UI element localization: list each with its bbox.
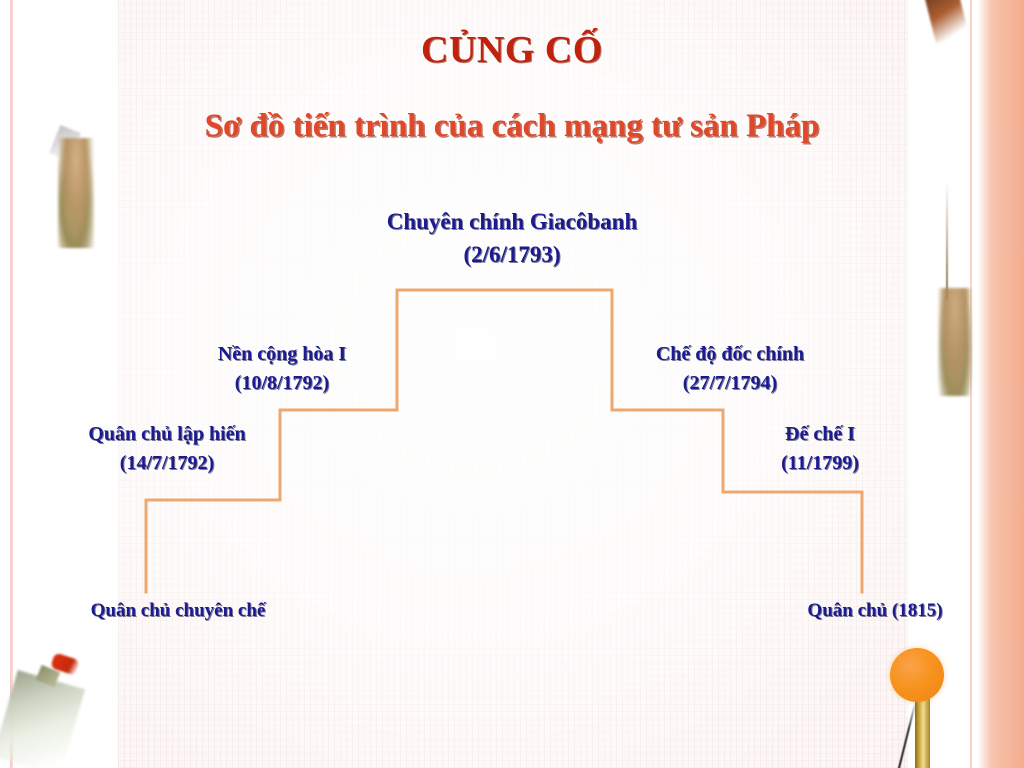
node-date: (14/7/1792): [32, 449, 302, 478]
node-label: Quân chủ chuyên chế: [28, 597, 328, 625]
node-date: (11/1799): [705, 449, 935, 478]
pin-bottom-right-icon: [886, 638, 966, 768]
pin-ball: [890, 648, 944, 702]
node-label: Nền cộng hòa I: [152, 340, 412, 369]
tassel-right-icon: [938, 288, 972, 396]
diagram-node-restoration: Quân chủ (1815): [740, 597, 1010, 625]
node-date: (10/8/1792): [152, 369, 412, 398]
node-label: Chế độ đốc chính: [600, 340, 860, 369]
brush-bristles: [0, 670, 85, 768]
presentation-slide: CỦNG CỐ Sơ đồ tiến trình của cách mạng t…: [0, 0, 1024, 768]
page-subtitle: Sơ đồ tiến trình của cách mạng tư sản Ph…: [0, 108, 1024, 145]
pin-needle: [897, 701, 916, 768]
diagram-node-jacobin: Chuyên chính Giacôbanh (2/6/1793): [0, 205, 1024, 272]
node-label: Quân chủ lập hiến: [32, 420, 302, 449]
diagram-node-directory: Chế độ đốc chính (27/7/1794): [600, 340, 860, 398]
diagram-node-constitutional-monarchy: Quân chủ lập hiến (14/7/1792): [32, 420, 302, 478]
brush-bottom-left-icon: [14, 648, 124, 768]
diagram-node-empire: Đế chế I (11/1799): [705, 420, 935, 478]
node-label: Đế chế I: [705, 420, 935, 449]
node-date: (27/7/1794): [600, 369, 860, 398]
node-date: (2/6/1793): [0, 238, 1024, 271]
node-label: Chuyên chính Giacôbanh: [0, 205, 1024, 238]
diagram-node-republic: Nền cộng hòa I (10/8/1792): [152, 340, 412, 398]
pin-stick: [915, 696, 930, 768]
page-title: CỦNG CỐ: [0, 28, 1024, 72]
node-label: Quân chủ (1815): [740, 597, 1010, 625]
diagram-node-absolute-monarchy: Quân chủ chuyên chế: [28, 597, 328, 625]
